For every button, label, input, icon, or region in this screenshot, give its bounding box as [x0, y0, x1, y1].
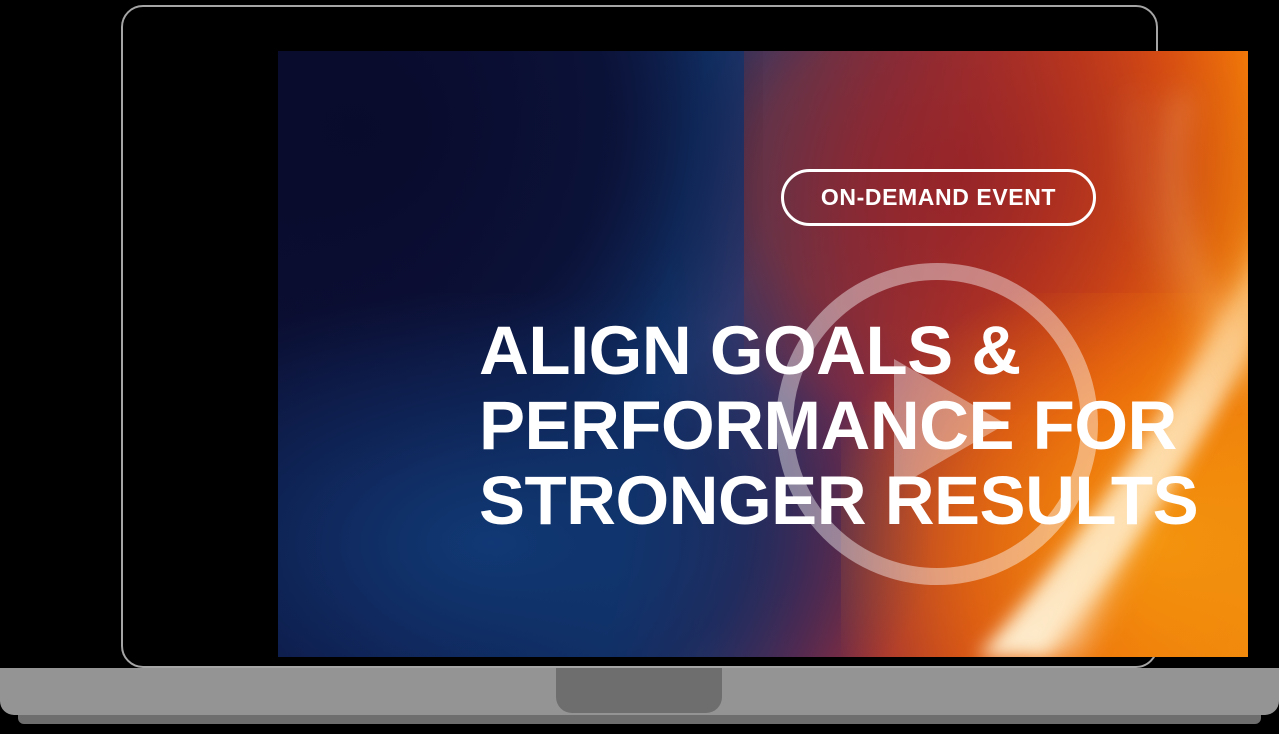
laptop-base-notch — [556, 668, 722, 713]
event-type-badge-label: ON-DEMAND EVENT — [821, 184, 1056, 211]
play-triangle-icon — [894, 359, 1006, 489]
laptop-lid: ON-DEMAND EVENT ALIGN GOALS & PERFORMANC… — [121, 5, 1158, 668]
video-overlay-content: ON-DEMAND EVENT ALIGN GOALS & PERFORMANC… — [278, 51, 1248, 657]
screenshot-stage: ON-DEMAND EVENT ALIGN GOALS & PERFORMANC… — [0, 0, 1279, 734]
video-player-screen[interactable]: ON-DEMAND EVENT ALIGN GOALS & PERFORMANC… — [278, 51, 1248, 657]
event-type-badge: ON-DEMAND EVENT — [781, 169, 1096, 226]
laptop-base-shadow — [18, 715, 1261, 724]
play-button[interactable] — [776, 263, 1098, 585]
